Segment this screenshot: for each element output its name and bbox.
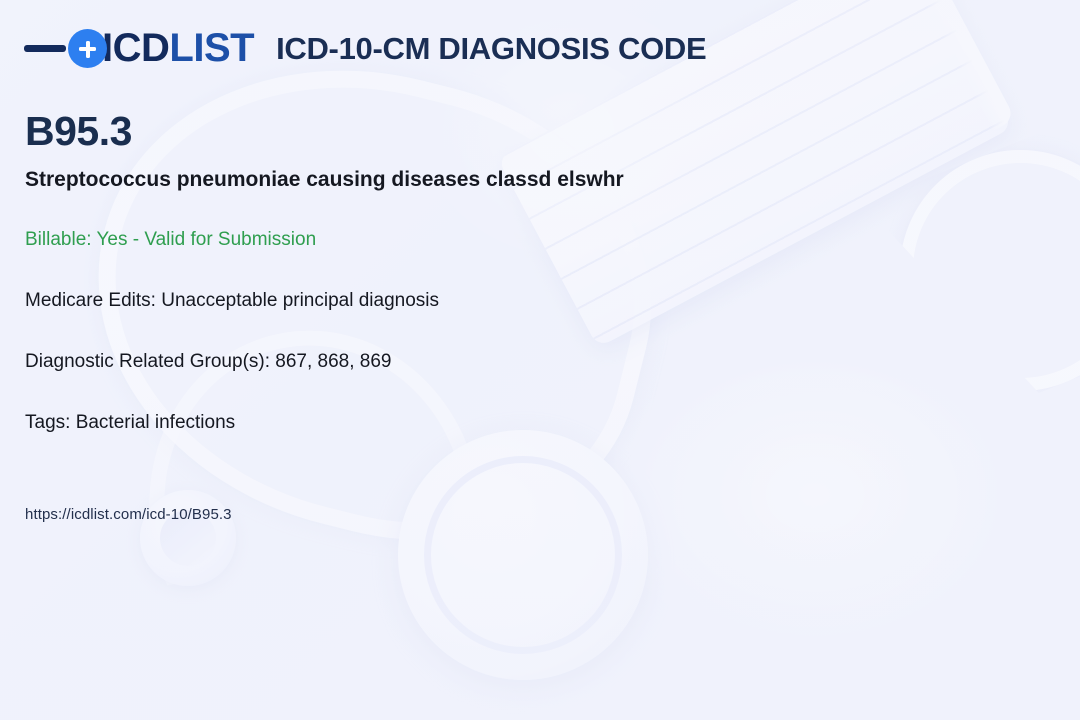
icdlist-logo[interactable]: ICDLIST <box>24 28 254 68</box>
tags: Tags: Bacterial infections <box>25 412 1025 435</box>
page-header: ICDLIST ICD-10-CM DIAGNOSIS CODE <box>24 28 706 68</box>
plus-circle-icon <box>68 29 107 68</box>
diagnosis-description: Streptococcus pneumoniae causing disease… <box>25 167 1025 193</box>
page-title: ICD-10-CM DIAGNOSIS CODE <box>276 33 706 64</box>
source-url[interactable]: https://icdlist.com/icd-10/B95.3 <box>25 506 232 523</box>
logo-word-icd: ICD <box>102 26 169 70</box>
stethoscope-stem-icon <box>421 431 526 529</box>
diagnostic-related-groups: Diagnostic Related Group(s): 867, 868, 8… <box>25 351 1025 374</box>
horizontal-dash-icon <box>24 45 66 52</box>
diagnosis-code: B95.3 <box>25 110 1025 153</box>
billable-status: Billable: Yes - Valid for Submission <box>25 229 1025 252</box>
medicare-edits: Medicare Edits: Unacceptable principal d… <box>25 290 1025 313</box>
logo-word-list: LIST <box>169 26 254 70</box>
diagnosis-code-card: ICDLIST ICD-10-CM DIAGNOSIS CODE B95.3 S… <box>0 0 1080 720</box>
stethoscope-chestpiece-icon <box>398 430 648 680</box>
logo-wordmark: ICDLIST <box>102 28 254 68</box>
code-details-block: B95.3 Streptococcus pneumoniae causing d… <box>25 110 1025 434</box>
stethoscope-earpiece-icon <box>140 490 236 586</box>
